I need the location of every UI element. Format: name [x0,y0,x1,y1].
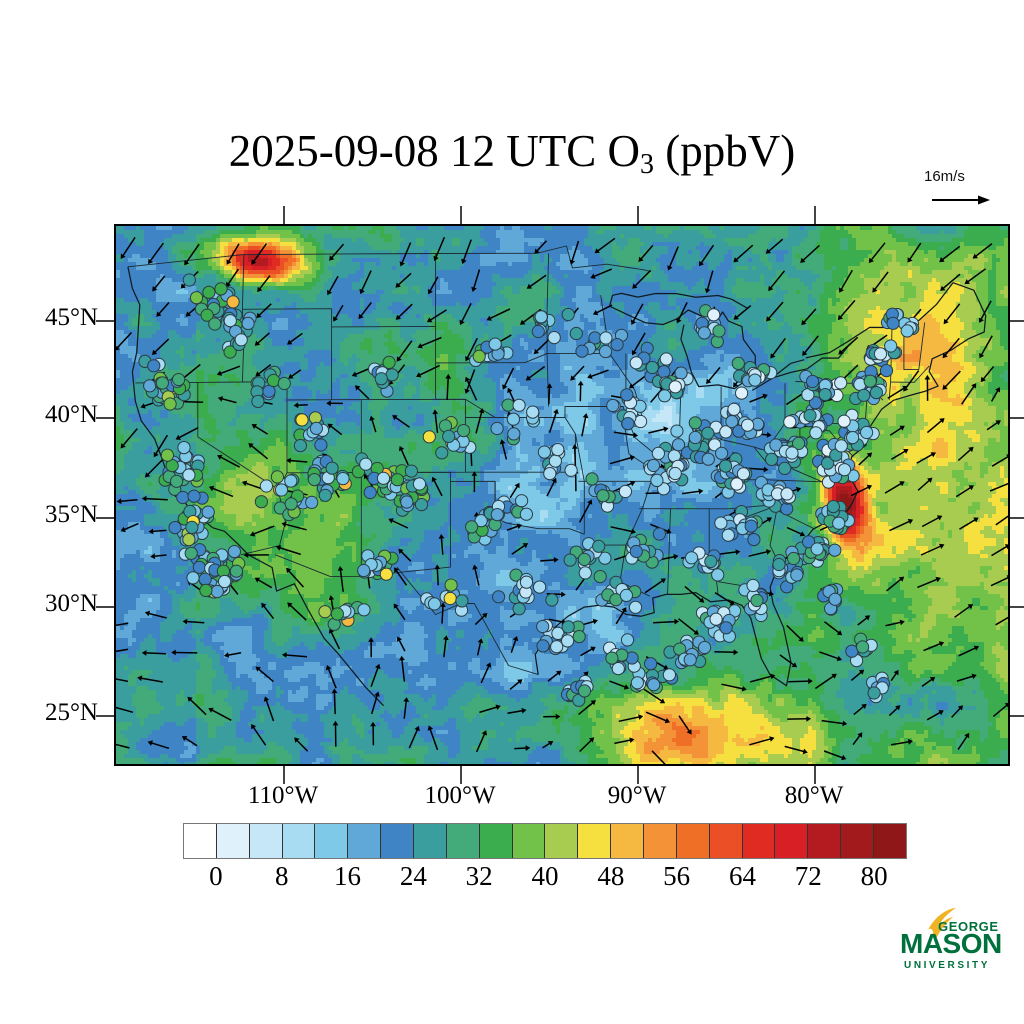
colorbar-swatch-21 [874,824,906,858]
lat-tick-label-35: 35°N [10,501,98,529]
colorbar-tick-80: 80 [861,861,888,892]
page-title: 2025-09-08 12 UTC O3 (ppbV) [0,125,1024,177]
lat-tick-right-35 [1010,517,1024,519]
colorbar-swatch-4 [315,824,348,858]
colorbar-tick-0: 0 [209,861,223,892]
colorbar-tick-48: 48 [597,861,624,892]
lat-tick-right-25 [1010,715,1024,717]
map-frame[interactable] [114,224,1010,766]
colorbar-swatch-11 [545,824,578,858]
colorbar-swatch-13 [611,824,644,858]
colorbar-swatch-12 [578,824,611,858]
lat-tick-left-30 [96,606,114,608]
lat-tick-right-45 [1010,320,1024,322]
colorbar-swatch-0 [184,824,217,858]
lat-tick-right-40 [1010,417,1024,419]
colorbar-tick-labels: 08162432404856647280 [183,861,907,895]
colorbar-swatch-8 [447,824,480,858]
arrow-right-icon [932,192,992,208]
colorbar-tick-32: 32 [466,861,493,892]
gmu-logo: GEORGE MASON UNIVERSITY [898,908,1016,974]
colorbar-swatch-10 [513,824,546,858]
colorbar-tick-40: 40 [532,861,559,892]
colorbar-swatch-19 [808,824,841,858]
lat-tick-left-45 [96,320,114,322]
lat-tick-left-35 [96,517,114,519]
lon-tick-top-90 [637,206,639,224]
colorbar-swatch-5 [348,824,381,858]
title-text-after: (ppbV) [654,126,795,176]
lon-tick-top-80 [814,206,816,224]
title-text-before: 2025-09-08 12 UTC O [229,126,640,176]
colorbar-tick-24: 24 [400,861,427,892]
wind-reference-label: 16m/s [924,168,965,185]
gmu-logo-icon: GEORGE MASON UNIVERSITY [898,908,1016,974]
colorbar-tick-8: 8 [275,861,289,892]
colorbar-swatch-18 [775,824,808,858]
lon-tick-label-90: 90°W [567,782,707,810]
colorbar-swatch-6 [381,824,414,858]
lat-tick-label-40: 40°N [10,401,98,429]
map-canvas [116,226,1008,764]
lat-tick-label-30: 30°N [10,590,98,618]
colorbar-swatch-1 [217,824,250,858]
map-panel[interactable] [114,224,1010,766]
colorbar-tick-56: 56 [663,861,690,892]
colorbar-swatch-3 [283,824,316,858]
lon-tick-top-100 [460,206,462,224]
colorbar-tick-72: 72 [795,861,822,892]
lon-tick-label-110: 110°W [213,782,353,810]
lat-tick-right-30 [1010,606,1024,608]
lon-tick-top-110 [283,206,285,224]
wind-reference-legend: 16m/s [916,168,1016,212]
lon-tick-label-80: 80°W [744,782,884,810]
title-subscript: 3 [640,149,654,180]
colorbar-tick-64: 64 [729,861,756,892]
colorbar-swatch-14 [644,824,677,858]
colorbar [183,823,907,859]
colorbar-swatch-7 [414,824,447,858]
lat-tick-left-40 [96,417,114,419]
lat-tick-label-45: 45°N [10,304,98,332]
colorbar-swatch-16 [710,824,743,858]
colorbar-swatch-20 [841,824,874,858]
colorbar-swatch-17 [743,824,776,858]
lat-tick-left-25 [96,715,114,717]
lon-tick-label-100: 100°W [390,782,530,810]
colorbar-swatch-2 [250,824,283,858]
colorbar-swatch-9 [480,824,513,858]
colorbar-tick-16: 16 [334,861,361,892]
colorbar-swatch-15 [677,824,710,858]
figure-canvas: 2025-09-08 12 UTC O3 (ppbV) 16m/s 081624… [0,0,1024,1024]
lat-tick-label-25: 25°N [10,699,98,727]
